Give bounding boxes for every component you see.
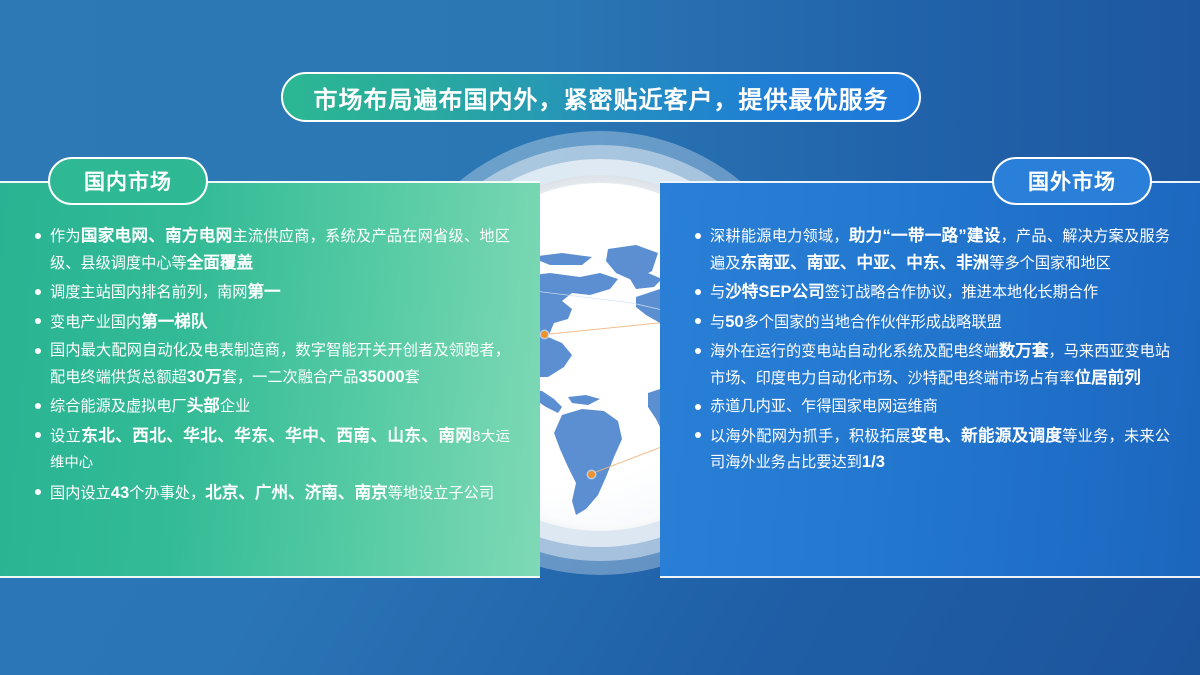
list-item: 变电产业国内第一梯队 [34,309,510,336]
list-item: 作为国家电网、南方电网主流供应商，系统及产品在网省级、地区级、县级调度中心等全面… [34,223,510,276]
domestic-market-badge-label: 国内市场 [84,166,172,196]
list-item: 与50多个国家的当地合作伙伴形成战略联盟 [694,309,1170,336]
list-item: 调度主站国内排名前列，南网第一 [34,279,510,306]
list-item: 深耕能源电力领域，助力“一带一路”建设，产品、解决方案及服务遍及东南亚、南亚、中… [694,223,1170,276]
list-item: 综合能源及虚拟电厂头部企业 [34,393,510,420]
domestic-market-badge: 国内市场 [48,157,208,205]
list-item: 国内设立43个办事处，北京、广州、济南、南京等地设立子公司 [34,480,510,507]
overseas-market-bullet-list: 深耕能源电力领域，助力“一带一路”建设，产品、解决方案及服务遍及东南亚、南亚、中… [660,223,1200,479]
overseas-market-badge-label: 国外市场 [1028,166,1116,196]
list-item: 设立东北、西北、华北、华东、华中、西南、山东、南网8大运维中心 [34,423,510,477]
list-item: 国内最大配网自动化及电表制造商，数字智能开关开创者及领跑者，配电终端供货总额超3… [34,338,510,390]
list-item: 与沙特SEP公司签订战略合作协议，推进本地化长期合作 [694,279,1170,306]
list-item: 赤道几内亚、乍得国家电网运维商 [694,394,1170,420]
page-title: 市场布局遍布国内外，紧密贴近客户，提供最优服务 [281,72,921,122]
domestic-market-panel: 国内市场 作为国家电网、南方电网主流供应商，系统及产品在网省级、地区级、县级调度… [0,181,540,578]
list-item: 海外在运行的变电站自动化系统及配电终端数万套，马来西亚变电站市场、印度电力自动化… [694,338,1170,391]
overseas-market-panel: 国外市场 深耕能源电力领域，助力“一带一路”建设，产品、解决方案及服务遍及东南亚… [660,181,1200,578]
overseas-market-badge: 国外市场 [992,157,1152,205]
domestic-market-bullet-list: 作为国家电网、南方电网主流供应商，系统及产品在网省级、地区级、县级调度中心等全面… [0,223,540,509]
list-item: 以海外配网为抓手，积极拓展变电、新能源及调度等业务，未来公司海外业务占比要达到1… [694,423,1170,476]
page-title-text: 市场布局遍布国内外，紧密贴近客户，提供最优服务 [314,80,889,115]
